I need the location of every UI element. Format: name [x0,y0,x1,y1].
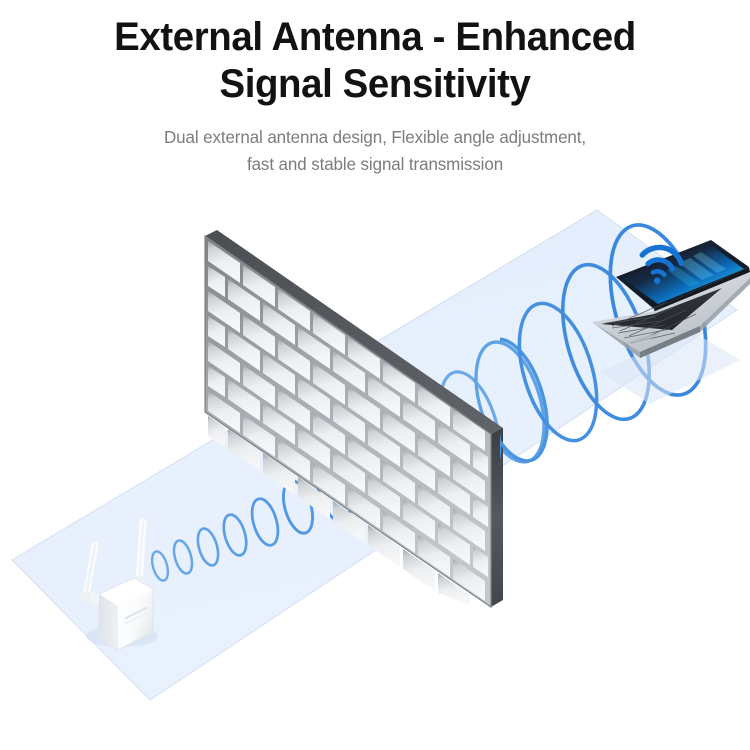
product-feature-banner: External Antenna - Enhanced Signal Sensi… [0,0,750,750]
illustration-scene [0,0,750,750]
wall-right-edge [491,428,503,607]
device-plug-tab [90,592,99,606]
antenna-left-hinge [79,592,91,601]
